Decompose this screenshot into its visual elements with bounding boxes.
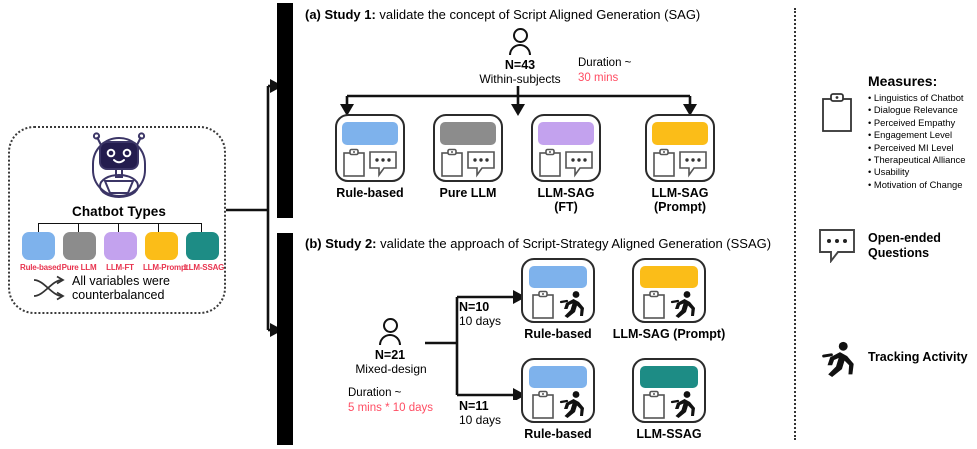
study2-prefix: (b) — [305, 236, 325, 251]
running-person-icon — [670, 290, 696, 320]
study1-card-sublabel: (Prompt) — [630, 200, 730, 214]
section-divider-bar-bottom — [277, 233, 293, 445]
study2-b2-card-label: LLM-SSAG — [612, 427, 726, 441]
swatch-llm-ft[interactable]: LLM-FT — [102, 232, 138, 272]
clipboard-icon — [642, 390, 666, 420]
study1-card-label: Rule-based — [320, 186, 420, 200]
study2-b1-card-rule-based[interactable] — [521, 258, 595, 323]
running-person-icon — [559, 390, 585, 420]
study2-n-label: N=21 — [366, 348, 414, 362]
chatbot-types-panel: Chatbot Types Rule-based Pure LLM LLM-FT… — [8, 126, 226, 314]
counterbalance-note: All variables were counterbalanced — [32, 274, 222, 302]
study2-duration-label: Duration ~ — [348, 387, 401, 399]
legend-open-ended-label: Open-ended Questions — [868, 231, 941, 261]
swatch-label: LLM-FT — [102, 263, 138, 272]
shuffle-icon — [32, 275, 66, 301]
study2-b2-card-label: Rule-based — [508, 427, 608, 441]
measures-title: Measures: — [868, 73, 937, 89]
measure-item: • Therapeutical Alliance — [868, 154, 977, 166]
study2-b1-card-llm-sag-prompt[interactable] — [632, 258, 706, 323]
study1-name: Study 1: — [325, 7, 376, 22]
study1-desc: validate the concept of Script Aligned G… — [376, 7, 700, 22]
clipboard-icon — [531, 390, 555, 420]
study2-b2-card-llm-ssag[interactable] — [632, 358, 706, 423]
study2-branch1-n: N=10 — [459, 300, 489, 314]
study1-card-llm-sag-prompt[interactable] — [645, 114, 715, 182]
study1-n-label: N=43 — [496, 58, 544, 72]
swatch-label: Rule-based — [20, 263, 56, 272]
legend-tracking-label: Tracking Activity — [868, 350, 968, 365]
study2-name: Study 2: — [325, 236, 376, 251]
measures-list: • Linguistics of Chatbot • Dialogue Rele… — [868, 92, 977, 191]
study1-card-pure-llm[interactable] — [433, 114, 503, 182]
study2-desc: validate the approach of Script-Strategy… — [377, 236, 772, 251]
swatch-pure-llm[interactable]: Pure LLM — [61, 232, 97, 272]
swatch-label: Pure LLM — [61, 263, 97, 272]
measure-item: • Perceived Empathy — [868, 117, 977, 129]
measure-item: • Engagement Level — [868, 129, 977, 141]
swatch-label: LLM-Prompt — [143, 263, 179, 272]
study1-branch-connector — [330, 86, 730, 116]
speech-bubble-icon — [678, 148, 708, 178]
study2-branch2-days: 10 days — [459, 413, 501, 427]
clipboard-icon — [538, 148, 562, 178]
swatch-llm-prompt[interactable]: LLM-Prompt — [143, 232, 179, 272]
measure-item: • Motivation of Change — [868, 179, 977, 191]
study2-b2-card-rule-based[interactable] — [521, 358, 595, 423]
chatbot-types-swatch-row: Rule-based Pure LLM LLM-FT LLM-Prompt LL… — [20, 232, 220, 272]
study2-b1-card-label: Rule-based — [508, 327, 608, 341]
running-person-icon — [670, 390, 696, 420]
swatch-llm-ssag[interactable]: LLM-SSAG — [184, 232, 220, 272]
legend-clipboard-icon — [820, 92, 854, 134]
section-divider-bar-top — [277, 3, 293, 218]
swatch-label: LLM-SSAG — [184, 263, 220, 272]
study2-design-label: Mixed-design — [350, 362, 432, 376]
robot-icon — [10, 132, 228, 202]
study1-duration-label: Duration ~ — [578, 57, 631, 69]
speech-bubble-icon — [466, 148, 496, 178]
study1-card-label: Pure LLM — [418, 186, 518, 200]
measure-item: • Perceived MI Level — [868, 142, 977, 154]
legend-divider — [794, 8, 796, 440]
swatch-rule-based[interactable]: Rule-based — [20, 232, 56, 272]
study2-participant-icon — [370, 318, 410, 345]
measure-item: • Dialogue Relevance — [868, 104, 977, 116]
clipboard-icon — [531, 290, 555, 320]
speech-bubble-icon — [564, 148, 594, 178]
clipboard-icon — [342, 148, 366, 178]
study2-branch2-n: N=11 — [459, 399, 489, 413]
legend-speech-bubble-icon — [818, 227, 856, 263]
running-person-icon — [559, 290, 585, 320]
study1-duration-value: 30 mins — [578, 72, 618, 84]
study1-card-rule-based[interactable] — [335, 114, 405, 182]
legend-running-person-icon — [821, 340, 855, 380]
study1-participant-icon — [500, 28, 540, 55]
study2-duration-value: 5 mins * 10 days — [348, 402, 433, 414]
measure-item: • Linguistics of Chatbot — [868, 92, 977, 104]
counterbalance-line1: All variables were — [72, 274, 170, 288]
study1-card-label: LLM-SAG — [516, 186, 616, 200]
study2-branch1-days: 10 days — [459, 314, 501, 328]
study1-card-sublabel: (FT) — [516, 200, 616, 214]
clipboard-icon — [642, 290, 666, 320]
speech-bubble-icon — [368, 148, 398, 178]
study1-title: (a) Study 1: validate the concept of Scr… — [305, 7, 700, 23]
counterbalance-line2: counterbalanced — [72, 288, 170, 302]
chatbot-types-title: Chatbot Types — [10, 204, 228, 219]
study1-prefix: (a) — [305, 7, 325, 22]
study1-card-llm-sag-ft[interactable] — [531, 114, 601, 182]
study1-design-label: Within-subjects — [465, 72, 575, 86]
study2-title: (b) Study 2: validate the approach of Sc… — [305, 236, 771, 252]
clipboard-icon — [652, 148, 676, 178]
clipboard-icon — [440, 148, 464, 178]
study2-b1-card-label: LLM-SAG (Prompt) — [602, 327, 736, 341]
study1-card-label: LLM-SAG — [630, 186, 730, 200]
measure-item: • Usability — [868, 166, 977, 178]
